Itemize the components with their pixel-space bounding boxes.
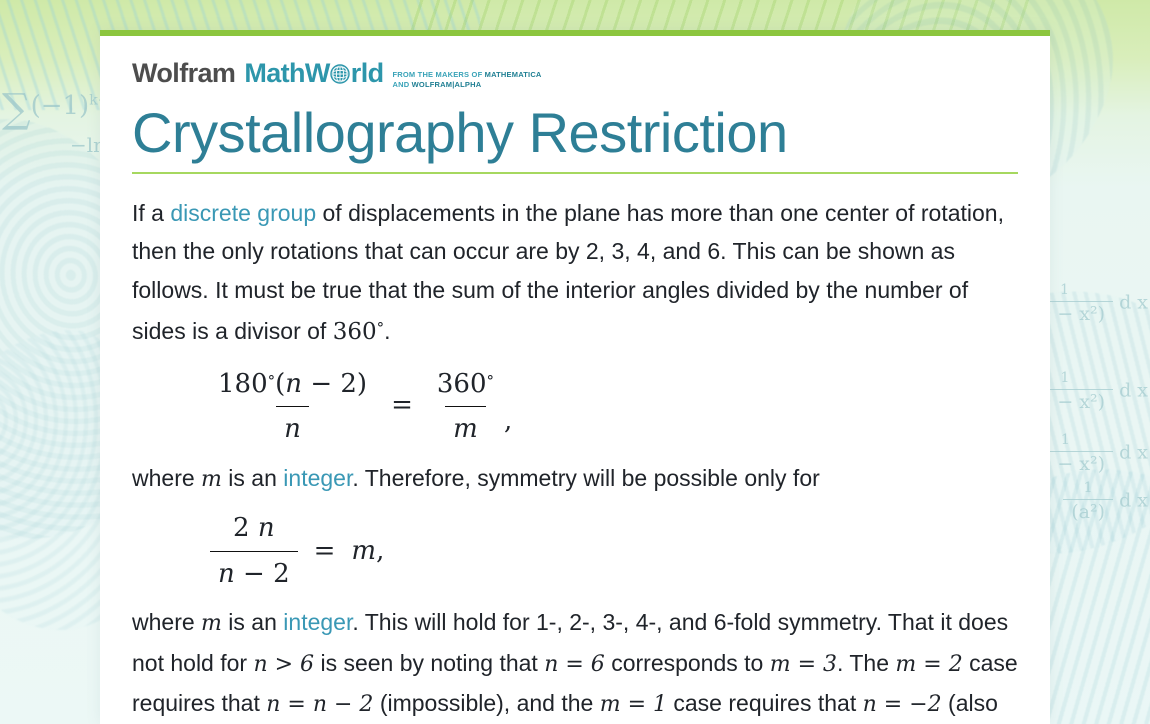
degree-symbol: °: [487, 372, 495, 390]
text-fragment: corresponds to: [605, 650, 770, 676]
equation1-left-fraction: 180°(n − 2) n: [210, 362, 375, 449]
text-fragment: If a: [132, 200, 170, 226]
math-2: 2: [233, 513, 250, 543]
background-integral-dx: d x: [1119, 380, 1148, 402]
math-2: 2: [273, 559, 290, 589]
text-fragment: where: [132, 465, 201, 491]
link-discrete-group[interactable]: discrete group: [170, 200, 316, 226]
equation1-comma: ,: [504, 402, 512, 449]
math-var-n: n: [285, 369, 302, 399]
equation1-rhs-numerator: 360°: [429, 362, 502, 407]
math-var-n: n: [218, 559, 235, 589]
equation1-denominator: n: [276, 406, 309, 449]
math-n-equals-6: n = 6: [544, 652, 605, 677]
math-var-n: n: [258, 513, 275, 543]
degree-symbol: °: [377, 319, 385, 337]
equation1-rhs-denominator: m: [445, 406, 486, 449]
equation2-numerator: 2 n: [225, 509, 283, 551]
math-var-m: m: [201, 467, 222, 492]
logo-mathworld-text: MathW rld: [244, 58, 383, 89]
background-integral-numerator: 1: [1063, 480, 1113, 499]
equals-sign: =: [391, 386, 413, 425]
paragraph-where-m-2: where m is an integer. This will hold fo…: [132, 603, 1018, 724]
math-360: 360: [437, 369, 487, 399]
paragraph-intro: If a discrete group of displacements in …: [132, 194, 1018, 352]
paren-open: (: [275, 369, 285, 399]
math-180: 180: [218, 369, 268, 399]
logo-tagline: FROM THE MAKERS OF MATHEMATICA AND WOLFR…: [393, 70, 542, 90]
equation1-right-fraction: 360° m: [429, 362, 502, 449]
equation2-denominator: n − 2: [210, 551, 298, 594]
tagline-line1-prefix: FROM THE MAKERS OF: [393, 70, 485, 79]
background-integral-denominator: (a²): [1063, 499, 1113, 523]
tagline-line-1: FROM THE MAKERS OF MATHEMATICA: [393, 70, 542, 79]
background-sigma-glyph: ∑: [2, 86, 31, 132]
text-fragment: is an: [222, 609, 283, 635]
math-m-equals-3: m = 3: [770, 652, 837, 677]
minus-sign: −: [243, 559, 265, 589]
math-360: 360: [333, 319, 377, 345]
math-n-equals-minus-2: n = −2: [863, 692, 942, 717]
text-fragment: (impossible), and the: [373, 690, 599, 716]
globe-icon: [330, 60, 350, 80]
paren-close: ): [357, 369, 367, 399]
equation-symmetry-condition: 2 n n − 2 = m,: [210, 509, 1018, 593]
logo-world-suffix: rld: [351, 58, 384, 89]
background-integral-4: 1 (a²) d x: [1063, 480, 1148, 523]
logo-wolfram-text: Wolfram: [132, 58, 235, 89]
math-n-greater-6: n > 6: [253, 652, 314, 677]
text-fragment: is an: [222, 465, 283, 491]
card-inner: Wolfram MathW: [100, 36, 1050, 724]
tagline-mathematica: MATHEMATICA: [485, 70, 542, 79]
background-integral-dx: d x: [1119, 490, 1148, 512]
content-card: Wolfram MathW: [100, 30, 1050, 724]
equation1-numerator: 180°(n − 2): [210, 362, 375, 407]
math-m-equals-2: m = 2: [895, 652, 962, 677]
logo-math-text: Math: [244, 58, 305, 89]
background-sum-body: (−1): [31, 91, 90, 121]
text-fragment: case requires that: [667, 690, 863, 716]
link-integer[interactable]: integer: [283, 465, 352, 491]
equation-angle-sum: 180°(n − 2) n = 360° m ,: [210, 362, 1018, 449]
title-divider: [132, 172, 1018, 174]
logo-world-prefix: W: [305, 58, 330, 89]
equation2-fraction: 2 n n − 2: [210, 509, 298, 593]
background-integral-dx: d x: [1119, 292, 1148, 314]
math-n-equals-n-minus-2: n = n − 2: [266, 692, 373, 717]
background-integral-dx: d x: [1119, 442, 1148, 464]
text-fragment: . Therefore, symmetry will be possible o…: [352, 465, 819, 491]
math-var-m: m: [201, 611, 222, 636]
math-2: 2: [340, 369, 357, 399]
equation2-rhs: m: [351, 532, 376, 571]
page-title: Crystallography Restriction: [132, 101, 1018, 166]
tagline-line2-prefix: AND: [393, 80, 412, 89]
equals-sign: =: [314, 532, 336, 571]
equation2-comma: ,: [376, 532, 384, 571]
tagline-wolfram-alpha: WOLFRAM|ALPHA: [412, 80, 482, 89]
text-fragment: .: [384, 318, 390, 344]
text-fragment: where: [132, 609, 201, 635]
math-m-equals-1: m = 1: [600, 692, 667, 717]
site-logo[interactable]: Wolfram MathW: [132, 58, 1018, 95]
text-fragment: is seen by noting that: [314, 650, 544, 676]
minus-sign: −: [310, 369, 332, 399]
background-integral-fraction: 1 (a²): [1063, 480, 1113, 523]
link-integer[interactable]: integer: [283, 609, 352, 635]
text-fragment: . The: [837, 650, 895, 676]
paragraph-where-m-1: where m is an integer. Therefore, symmet…: [132, 459, 1018, 500]
article-body: If a discrete group of displacements in …: [132, 194, 1018, 724]
tagline-line-2: AND WOLFRAM|ALPHA: [393, 80, 482, 89]
